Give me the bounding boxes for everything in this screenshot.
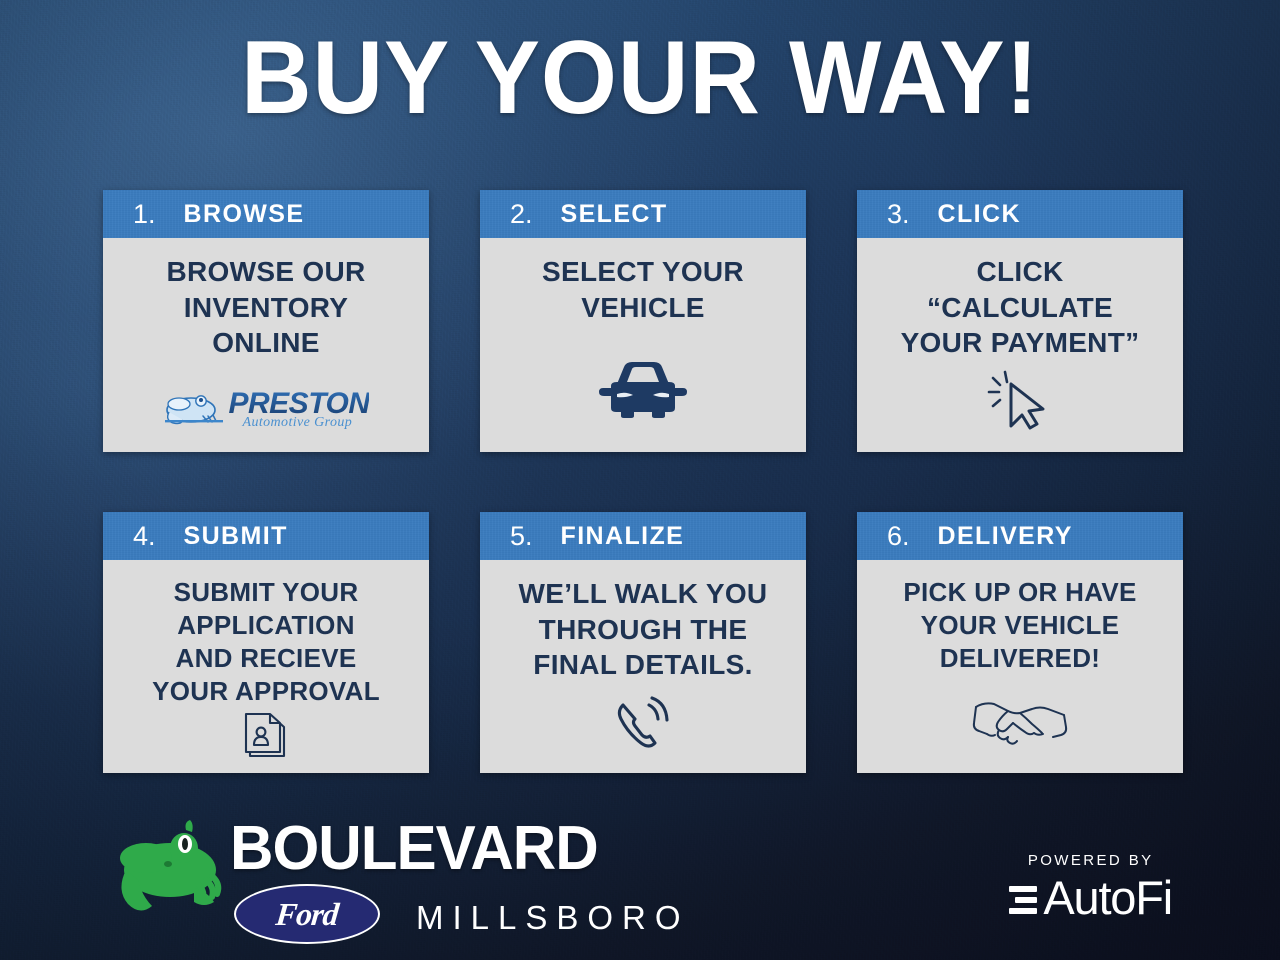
step-artwork <box>115 708 417 762</box>
dealer-location: MILLSBORO <box>416 895 690 934</box>
step-artwork <box>492 693 794 755</box>
car-front-icon <box>591 354 695 426</box>
step-description: SELECT YOUR VEHICLE <box>542 254 744 325</box>
step-card-finalize[interactable]: 5. FINALIZE WE’LL WALK YOU THROUGH THE F… <box>480 512 806 773</box>
step-card-header: 1. BROWSE <box>103 190 429 238</box>
ford-wordmark: Ford <box>274 896 340 933</box>
ford-oval-badge: Ford <box>234 884 380 944</box>
step-number: 5. <box>510 523 533 550</box>
step-artwork: PRESTON Automotive Group <box>115 389 417 442</box>
autofi-logo: AutoFi <box>1009 874 1172 921</box>
step-label: SUBMIT <box>184 524 288 549</box>
step-card-body: SELECT YOUR VEHICLE <box>480 238 806 452</box>
step-label: DELIVERY <box>938 524 1073 549</box>
page-title: BUY YOUR WAY! <box>38 26 1241 130</box>
step-card-header: 3. CLICK <box>857 190 1183 238</box>
step-label: CLICK <box>938 202 1021 227</box>
dealer-name: BOULEVARD <box>230 818 676 880</box>
step-card-browse[interactable]: 1. BROWSE BROWSE OUR INVENTORY ONLINE <box>103 190 429 452</box>
step-card-select[interactable]: 2. SELECT SELECT YOUR VEHICLE <box>480 190 806 452</box>
phone-ringing-icon <box>608 693 678 755</box>
powered-by-label: POWERED BY <box>1028 852 1154 869</box>
step-number: 2. <box>510 201 533 228</box>
preston-tagline: Automotive Group <box>243 416 353 430</box>
step-card-body: SUBMIT YOUR APPLICATION AND RECIEVE YOUR… <box>103 560 429 773</box>
powered-by-autofi[interactable]: POWERED BY AutoFi <box>1009 852 1172 921</box>
step-card-header: 6. DELIVERY <box>857 512 1183 560</box>
ford-badge-row[interactable]: Ford MILLSBORO <box>234 884 690 944</box>
step-card-header: 5. FINALIZE <box>480 512 806 560</box>
step-description: PICK UP OR HAVE YOUR VEHICLE DELIVERED! <box>903 576 1136 675</box>
step-label: BROWSE <box>184 202 305 227</box>
step-description: CLICK “CALCULATE YOUR PAYMENT” <box>901 254 1140 361</box>
step-card-body: PICK UP OR HAVE YOUR VEHICLE DELIVERED! <box>857 560 1183 773</box>
step-description: WE’LL WALK YOU THROUGH THE FINAL DETAILS… <box>519 576 768 683</box>
frog-logo-icon <box>112 818 224 930</box>
handshake-icon <box>968 693 1072 749</box>
step-artwork <box>492 354 794 426</box>
step-number: 1. <box>133 201 156 228</box>
mouse-cursor-click-icon <box>981 364 1059 432</box>
step-number: 3. <box>887 201 910 228</box>
step-card-click[interactable]: 3. CLICK CLICK “CALCULATE YOUR PAYMENT” <box>857 190 1183 452</box>
autofi-bars-icon <box>1009 882 1037 914</box>
step-artwork <box>869 364 1171 432</box>
footer: BOULEVARD Ford MILLSBORO POWERED BY Auto… <box>0 810 1280 960</box>
step-description: SUBMIT YOUR APPLICATION AND RECIEVE YOUR… <box>152 576 380 708</box>
step-description: BROWSE OUR INVENTORY ONLINE <box>167 254 366 361</box>
step-card-body: BROWSE OUR INVENTORY ONLINE <box>103 238 429 452</box>
step-label: FINALIZE <box>561 524 685 549</box>
step-label: SELECT <box>561 202 668 227</box>
step-card-delivery[interactable]: 6. DELIVERY PICK UP OR HAVE YOUR VEHICLE… <box>857 512 1183 773</box>
preston-automotive-group-logo: PRESTON Automotive Group <box>163 389 370 430</box>
step-number: 4. <box>133 523 156 550</box>
application-document-icon <box>236 708 296 762</box>
poster-canvas: BUY YOUR WAY! 1. BROWSE BROWSE OUR INVEN… <box>0 0 1280 960</box>
step-card-header: 2. SELECT <box>480 190 806 238</box>
autofi-wordmark: AutoFi <box>1043 874 1172 921</box>
step-card-body: WE’LL WALK YOU THROUGH THE FINAL DETAILS… <box>480 560 806 773</box>
dealer-branding[interactable]: BOULEVARD Ford MILLSBORO <box>112 818 690 944</box>
step-number: 6. <box>887 523 910 550</box>
step-artwork <box>869 693 1171 749</box>
step-card-body: CLICK “CALCULATE YOUR PAYMENT” <box>857 238 1183 452</box>
step-card-header: 4. SUBMIT <box>103 512 429 560</box>
frog-logo-icon <box>163 390 225 430</box>
steps-grid: 1. BROWSE BROWSE OUR INVENTORY ONLINE <box>103 190 1185 773</box>
step-card-submit[interactable]: 4. SUBMIT SUBMIT YOUR APPLICATION AND RE… <box>103 512 429 773</box>
